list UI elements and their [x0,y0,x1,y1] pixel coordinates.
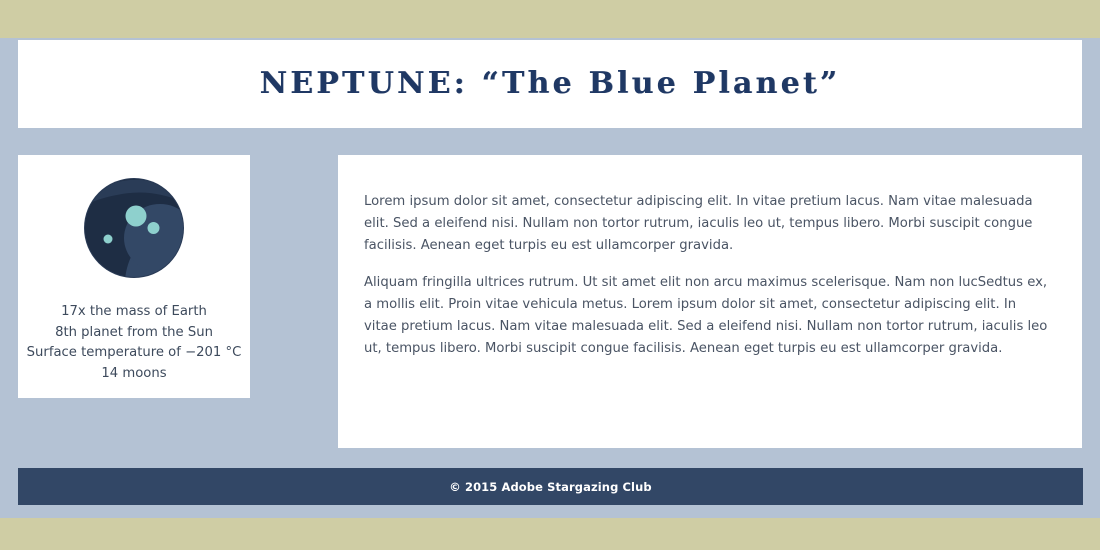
planet-fact-order: 8th planet from the Sun [18,323,250,344]
page-title: NEPTUNE: “The Blue Planet” [260,69,841,99]
neptune-planet-illustration-icon [82,176,186,280]
header-card: NEPTUNE: “The Blue Planet” [18,40,1082,128]
planet-fact-card: 17x the mass of Earth 8th planet from th… [18,155,250,398]
article-paragraph-2: Aliquam fringilla ultrices rutrum. Ut si… [364,272,1052,360]
planet-spot-small [104,235,113,244]
article-paragraph-1: Lorem ipsum dolor sit amet, consectetur … [364,191,1052,257]
page-frame: NEPTUNE: “The Blue Planet” [0,0,1100,550]
planet-fact-moons: 14 moons [18,364,250,385]
planet-facts-list: 17x the mass of Earth 8th planet from th… [18,302,250,384]
footer-copyright: © 2015 Adobe Stargazing Club [449,480,651,494]
page-body: NEPTUNE: “The Blue Planet” [0,38,1100,518]
footer-bar: © 2015 Adobe Stargazing Club [18,468,1083,505]
planet-spot-medium [148,222,160,234]
article-body: Lorem ipsum dolor sit amet, consectetur … [338,155,1082,360]
planet-fact-mass: 17x the mass of Earth [18,302,250,323]
planet-spot-large [126,206,147,227]
article-card: Lorem ipsum dolor sit amet, consectetur … [338,155,1082,448]
planet-fact-temperature: Surface temperature of −201 °C [18,343,250,364]
